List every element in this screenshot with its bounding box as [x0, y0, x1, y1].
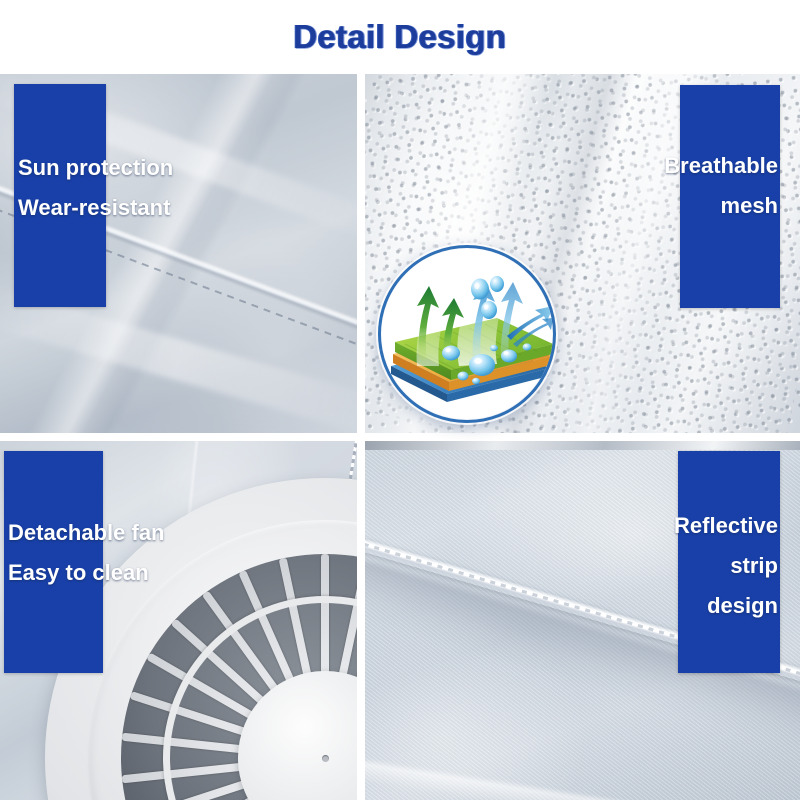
- label-line: Wear-resistant: [18, 188, 338, 228]
- label-reflective-strip: Reflective strip design: [520, 506, 778, 626]
- label-sun-protection: Sun protection Wear-resistant: [18, 148, 338, 228]
- product-detail-image: Detail Design: [0, 0, 800, 800]
- label-line: Breathable: [520, 146, 778, 186]
- breathable-waterproof-badge: [378, 245, 556, 423]
- page-title: Detail Design: [294, 18, 507, 56]
- label-line: Sun protection: [18, 148, 338, 188]
- label-line: Detachable fan: [8, 513, 338, 553]
- title-bar: Detail Design: [0, 0, 800, 74]
- label-line: strip: [520, 546, 778, 586]
- label-breathable-mesh: Breathable mesh: [520, 146, 778, 226]
- label-line: design: [520, 586, 778, 626]
- label-line: mesh: [520, 186, 778, 226]
- label-detachable-fan: Detachable fan Easy to clean: [8, 513, 338, 593]
- fan-center-screw: [322, 755, 329, 762]
- label-line: Easy to clean: [8, 553, 338, 593]
- panel-top-edge-sliver: [365, 441, 800, 450]
- label-line: Reflective: [520, 506, 778, 546]
- breathable-waterproof-diagram: [381, 248, 553, 420]
